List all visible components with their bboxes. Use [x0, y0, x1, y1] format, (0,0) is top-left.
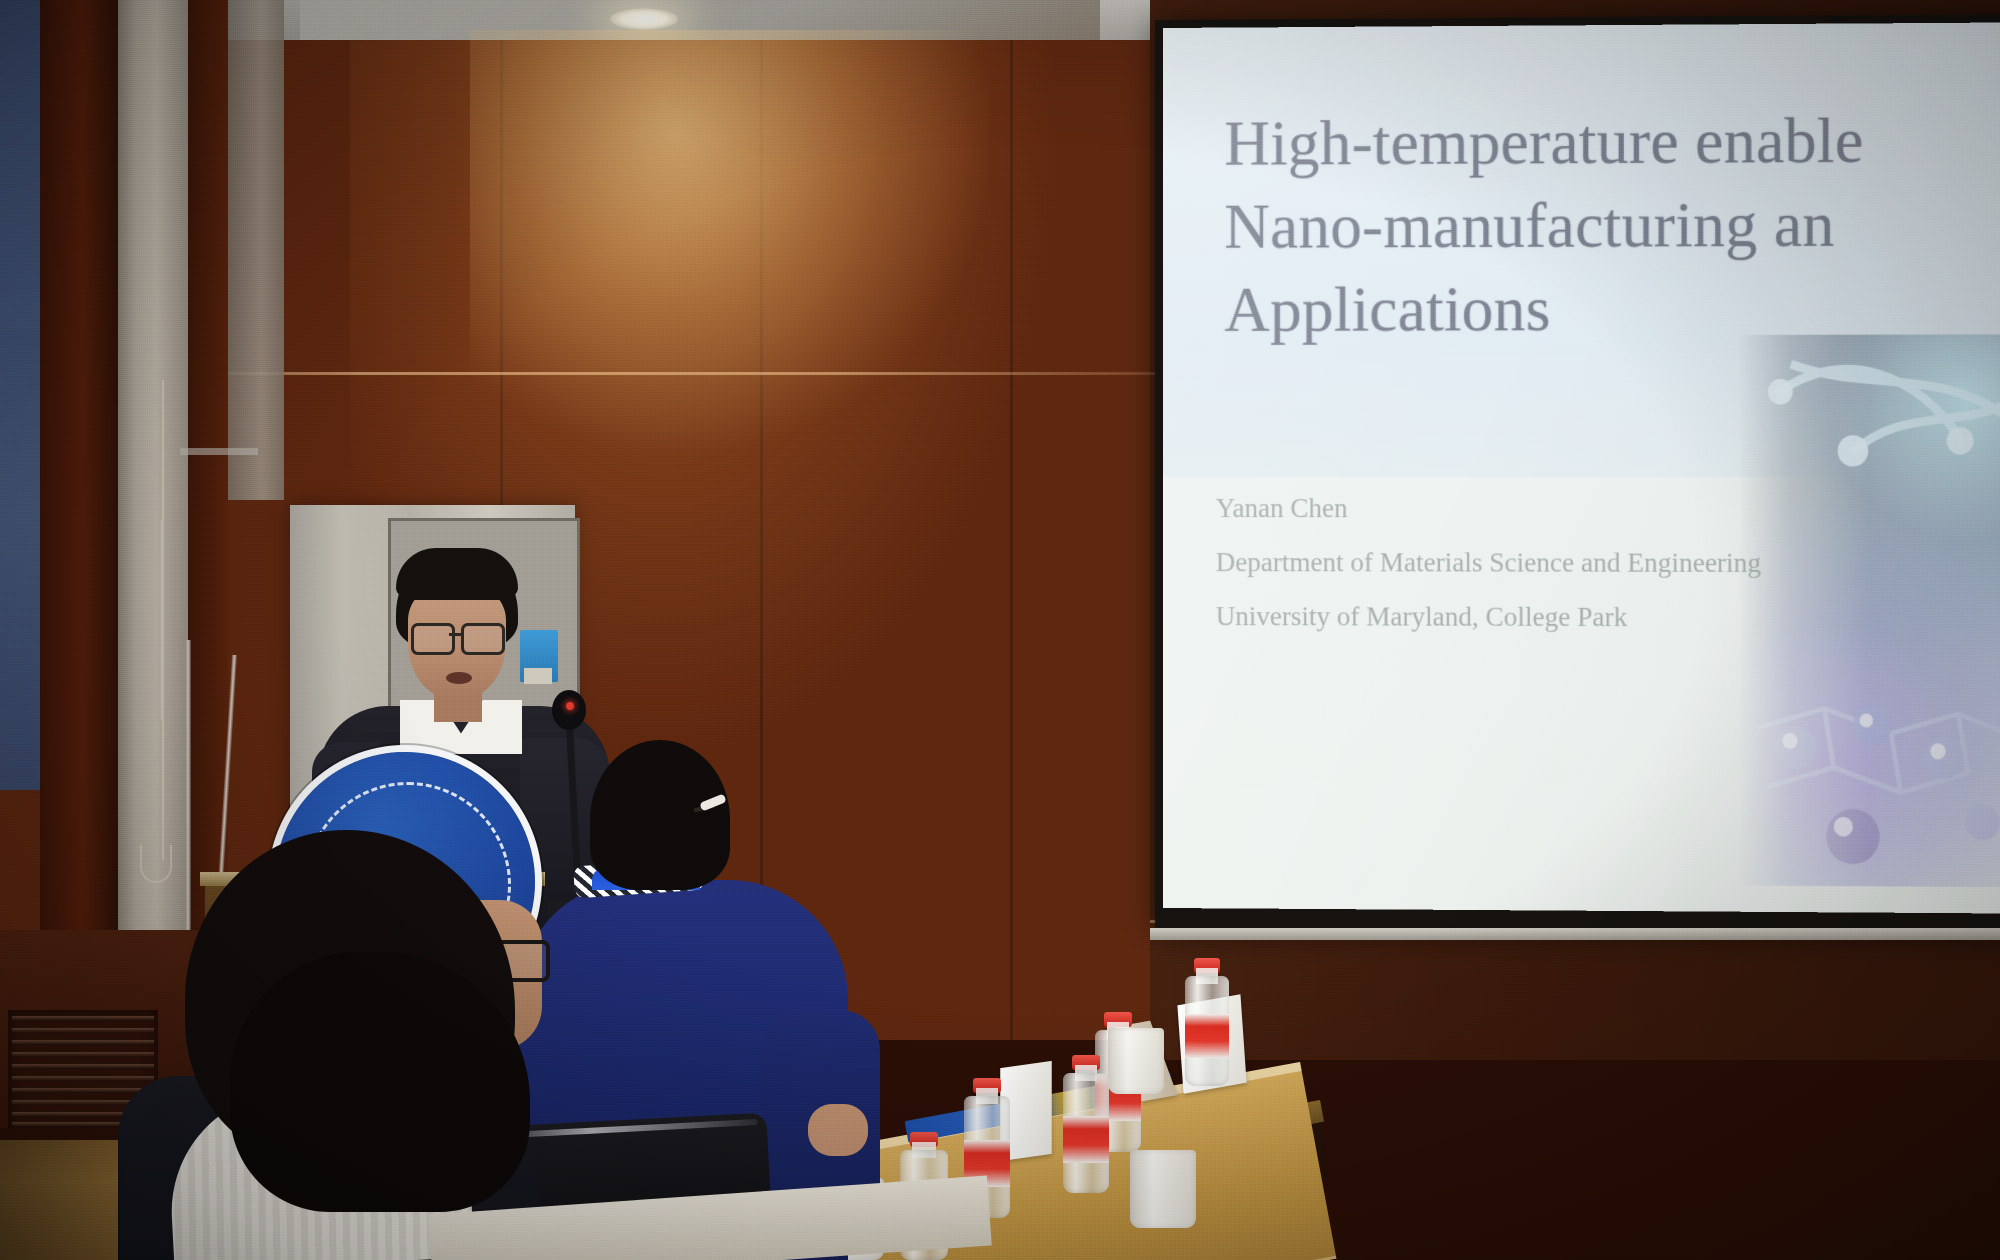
water-bottle: [1185, 958, 1229, 1086]
stone-pillar: [118, 0, 188, 980]
microphone-icon: [552, 690, 586, 730]
screen-bottom-bar: [1150, 928, 2000, 940]
paper-cup: [1108, 1028, 1164, 1094]
screen-sheen: [1163, 22, 2000, 913]
wall-rail: [180, 448, 258, 455]
microphone-indicator-led: [566, 702, 574, 710]
ceiling-downlight-icon: [610, 8, 678, 30]
projection-screen: High-temperature enable Nano-manufacturi…: [1163, 22, 2000, 913]
paper-cup: [1130, 1150, 1196, 1228]
metal-pole: [160, 520, 164, 720]
water-bottle: [1063, 1055, 1109, 1193]
presenter-glasses-bridge: [449, 633, 461, 636]
attendee-man-head: [590, 740, 730, 890]
attendee-man-hand: [808, 1104, 868, 1156]
presenter-glasses-left-lens: [411, 623, 455, 655]
presenter-glasses-right-lens: [461, 623, 505, 655]
stone-pillar-2: [228, 0, 284, 500]
presentation-slide: High-temperature enable Nano-manufacturi…: [1163, 22, 2000, 913]
photo-scene: High-temperature enable Nano-manufacturi…: [0, 0, 2000, 1260]
hanging-cord-loop: [140, 845, 172, 883]
metal-pole: [186, 640, 191, 970]
wood-pillar: [40, 0, 118, 980]
presenter-mouth: [446, 672, 472, 684]
presenter-hair-front: [396, 548, 518, 600]
blue-wall-panel-upper: [0, 0, 42, 340]
